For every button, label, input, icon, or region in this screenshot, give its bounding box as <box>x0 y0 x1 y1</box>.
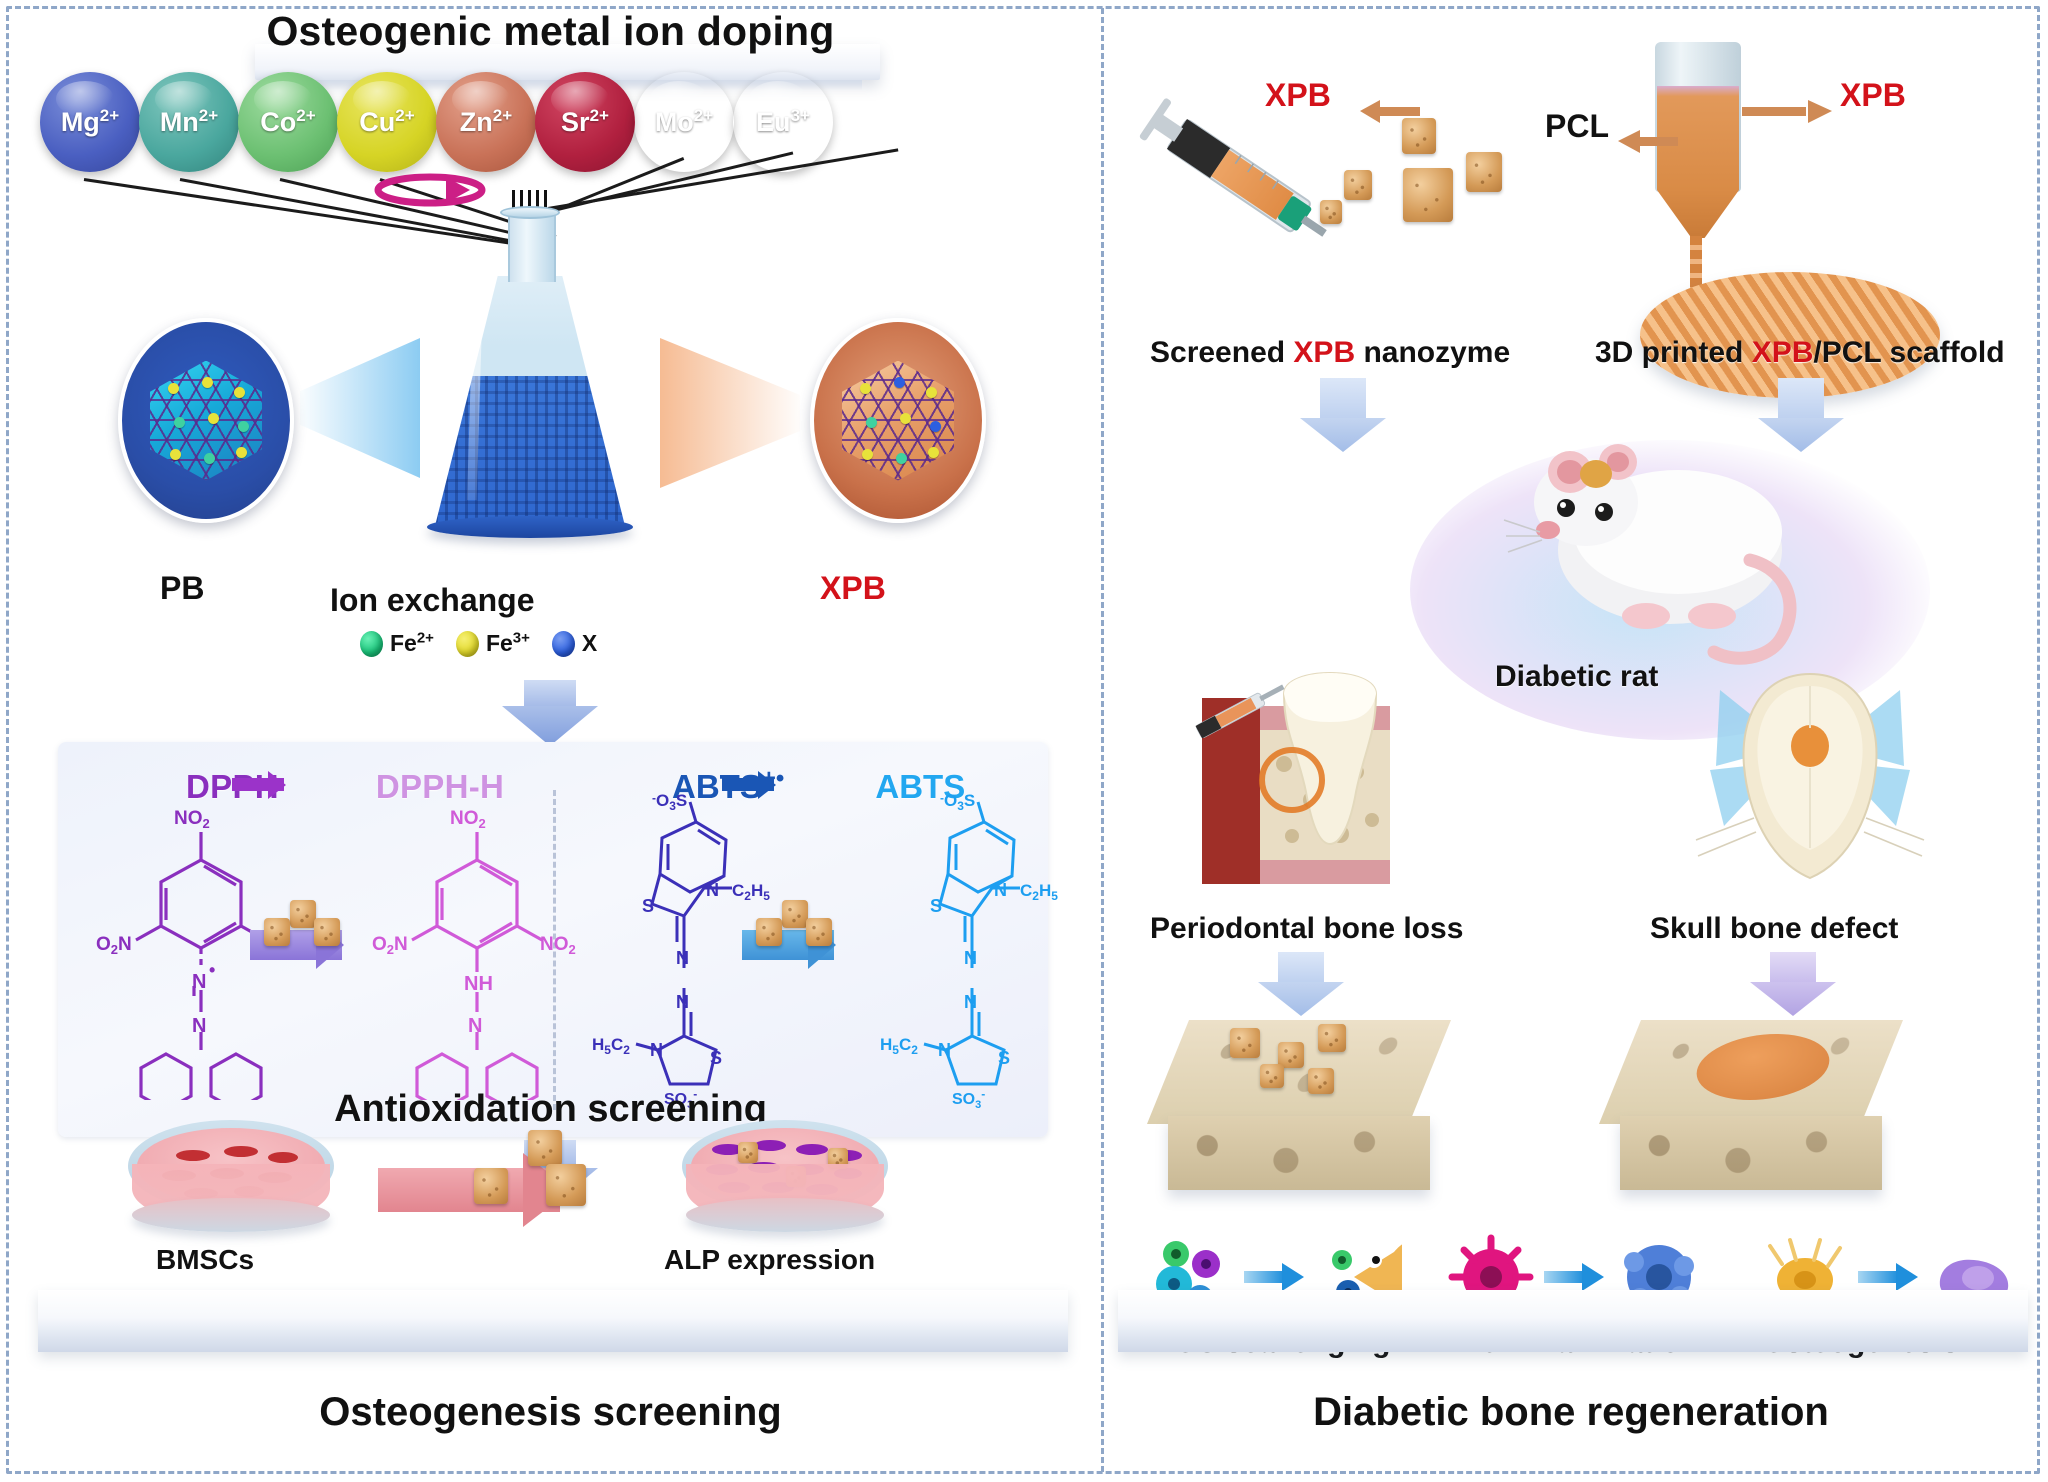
osteogenesis-screening-title: Osteogenesis screening <box>0 1390 1101 1435</box>
lattice-node <box>928 447 939 458</box>
nanocube <box>756 918 782 946</box>
caption-prefix: 3D printed <box>1595 336 1752 369</box>
svg-text:S: S <box>930 896 942 916</box>
svg-text:O2N: O2N <box>96 934 132 957</box>
caption-highlight-2: PCL <box>1822 336 1881 369</box>
lattice-node <box>862 449 873 460</box>
pcl-label: PCL <box>1545 108 1609 145</box>
scene-platform-3 <box>1118 1290 2028 1352</box>
ion-bubble-sr: Sr2+ <box>535 72 635 172</box>
svg-text:•: • <box>209 960 215 980</box>
xpb-label-scaffold: XPB <box>1840 77 1906 114</box>
dish-base <box>686 1198 884 1232</box>
petri-dish-bmscs <box>128 1120 334 1246</box>
svg-text:N: N <box>964 992 977 1012</box>
nanocube <box>806 918 832 946</box>
nanocube <box>782 900 808 928</box>
abts-arrow-icon <box>722 778 774 791</box>
legend-label: Fe2+ <box>390 630 434 657</box>
petri-dish-alp <box>682 1120 888 1246</box>
bone-top-surface <box>1147 1020 1451 1124</box>
lattice-node <box>204 453 215 464</box>
scene-platform-2 <box>38 1290 1068 1352</box>
legend-dot-green <box>360 631 383 657</box>
erlenmeyer-flask <box>395 190 665 590</box>
pb-crystal-inset <box>118 318 294 523</box>
svg-text:N: N <box>468 1015 482 1037</box>
bone-block-periodontal <box>1168 1020 1468 1200</box>
panel-divider <box>1101 8 1104 1472</box>
figure-root: Osteogenic metal ion doping Mg2+ Mn2+ Co… <box>0 0 2048 1482</box>
svg-text:NO2: NO2 <box>450 808 486 831</box>
svg-text:H5C2: H5C2 <box>592 1035 630 1057</box>
bone-front-surface <box>1620 1116 1882 1190</box>
nanocube <box>1308 1068 1334 1094</box>
nanocube <box>1260 1064 1284 1088</box>
ion-exchange-label: Ion exchange <box>330 582 535 619</box>
svg-text:NO2: NO2 <box>540 934 576 957</box>
printed-scaffold-caption: 3D printed XPB/PCL scaffold <box>1595 336 2005 370</box>
page-title: Osteogenic metal ion doping <box>0 8 1101 55</box>
nanocube <box>1466 152 1502 192</box>
nanocube <box>1344 170 1372 200</box>
alp-cell <box>796 1144 828 1155</box>
svg-text:-O3S: -O3S <box>652 792 687 813</box>
svg-text:H5C2: H5C2 <box>880 1035 918 1057</box>
ion-label: Co2+ <box>260 107 315 138</box>
ion-label: Cu2+ <box>359 107 414 138</box>
nanocube <box>314 918 340 946</box>
legend-item-x: X <box>552 630 597 657</box>
bmsc-cell <box>268 1152 298 1163</box>
legend-item-fe3: Fe3+ <box>456 630 530 657</box>
nanocube <box>1403 168 1453 222</box>
svg-text:N: N <box>650 1040 663 1060</box>
lattice-node <box>236 447 247 458</box>
pb-cube <box>150 361 262 481</box>
xpb-arrow-left-icon <box>1360 98 1420 124</box>
lattice-node <box>234 387 245 398</box>
pb-label: PB <box>160 570 204 607</box>
flow-arrow-to-bone-right <box>1750 952 1836 1014</box>
legend-label: X <box>582 630 597 657</box>
flask-lip <box>500 206 560 219</box>
alp-cell <box>754 1140 786 1151</box>
pcl-arrow-left-icon <box>1618 128 1678 154</box>
svg-text:NH: NH <box>464 973 493 995</box>
ion-label: Mn2+ <box>160 107 218 138</box>
nanocube <box>290 900 316 928</box>
bmsc-cell <box>176 1150 210 1161</box>
svg-text:N: N <box>938 1040 951 1060</box>
flask-liquid-texture <box>435 376 625 526</box>
skull-bone-defect-label: Skull bone defect <box>1650 912 1898 946</box>
ion-bubble-mn: Mn2+ <box>139 72 239 172</box>
caption-suffix: scaffold <box>1881 336 2004 369</box>
nanocube <box>474 1168 508 1204</box>
svg-text:-O3S: -O3S <box>940 792 975 813</box>
svg-text:O2N: O2N <box>372 934 408 957</box>
ion-label: Sr2+ <box>561 107 609 138</box>
nanocube <box>264 918 290 946</box>
svg-text:S: S <box>642 896 654 916</box>
lattice-node <box>202 377 213 388</box>
dpph-h-structure: NO2 O2N NO2 NH N <box>372 800 582 1100</box>
diabetic-bone-regeneration-title: Diabetic bone regeneration <box>1101 1390 2041 1435</box>
bone-front-surface <box>1168 1116 1430 1190</box>
svg-text:S: S <box>998 1048 1010 1068</box>
lattice-node <box>208 413 219 424</box>
nanocube <box>528 1130 562 1166</box>
svg-text:C2H5: C2H5 <box>732 881 770 903</box>
xpb-label-nanozyme: XPB <box>1265 77 1331 114</box>
xpb-arrow-right-icon <box>1742 98 1832 124</box>
mechanism-arrow-icon <box>1244 1268 1306 1286</box>
lattice-node <box>894 377 905 388</box>
periodontal-bone-loss-label: Periodontal bone loss <box>1150 912 1463 946</box>
flask-neck <box>508 212 556 282</box>
nanocube <box>738 1142 758 1163</box>
lattice-node <box>168 383 179 394</box>
ion-bubble-eu: Eu3+ <box>733 72 833 172</box>
mechanism-arrow-icon <box>1544 1268 1606 1286</box>
flow-arrow-to-rat-left <box>1300 378 1386 452</box>
lattice-node <box>896 453 907 464</box>
lattice-node <box>900 413 911 424</box>
lattice-node <box>170 449 181 460</box>
diabetic-rat-illustration <box>1500 420 1830 680</box>
svg-text:N: N <box>192 1015 206 1037</box>
ion-bubble-cu: Cu2+ <box>337 72 437 172</box>
caption-highlight: XPB <box>1752 336 1814 369</box>
ion-label: Mg2+ <box>61 107 119 138</box>
caption-highlight: XPB <box>1293 336 1355 369</box>
periodontal-bone-loss-illustration <box>1180 660 1460 900</box>
flow-arrow-to-bone-left <box>1258 952 1344 1014</box>
abts-structure: -O3S S N C2H5 N N N S H5C2 SO3- <box>880 792 1080 1112</box>
xpb-cube <box>842 361 954 481</box>
dpph-arrow-icon <box>232 778 284 791</box>
stirring-arrow-icon <box>370 173 490 207</box>
mechanism-arrow-icon <box>1858 1268 1920 1286</box>
svg-text:N: N <box>192 971 206 993</box>
bone-block-skull <box>1620 1020 1920 1200</box>
caption-suffix: nanozyme <box>1355 336 1510 369</box>
lattice-node <box>238 421 249 432</box>
ion-label: Eu3+ <box>756 107 810 138</box>
ion-label: Zn2+ <box>460 107 512 138</box>
svg-text:N: N <box>706 880 719 900</box>
svg-text:N: N <box>676 992 689 1012</box>
ion-bubble-zn: Zn2+ <box>436 72 536 172</box>
diabetic-rat-label: Diabetic rat <box>1495 660 1658 694</box>
xpb-crystal-inset <box>810 318 986 523</box>
legend-dot-blue <box>552 631 575 657</box>
lattice-node <box>926 387 937 398</box>
svg-text:N: N <box>994 880 1007 900</box>
ion-bubble-mo: Mo2+ <box>634 72 734 172</box>
svg-text:NO2: NO2 <box>174 808 210 831</box>
bmsc-cell <box>224 1146 258 1157</box>
nanocube <box>1320 200 1342 224</box>
ion-label: Mo2+ <box>655 107 713 138</box>
skull-bone-defect-illustration <box>1680 650 1940 900</box>
lattice-node <box>860 383 871 394</box>
legend-label: Fe3+ <box>486 630 530 657</box>
lattice-node <box>930 421 941 432</box>
svg-text:C2H5: C2H5 <box>1020 881 1058 903</box>
ion-bubble-co: Co2+ <box>238 72 338 172</box>
caption-prefix: Screened <box>1150 336 1293 369</box>
alp-label: ALP expression <box>664 1244 875 1276</box>
lattice-node <box>174 417 185 428</box>
ion-legend: Fe2+ Fe3+ X <box>360 630 597 657</box>
dish-base <box>132 1198 330 1232</box>
flask-base <box>427 516 633 538</box>
nanocube <box>1230 1028 1260 1058</box>
legend-item-fe2: Fe2+ <box>360 630 434 657</box>
xpb-label: XPB <box>820 570 886 607</box>
legend-dot-yellow <box>456 631 479 657</box>
screened-nanozyme-caption: Screened XPB nanozyme <box>1150 336 1510 370</box>
bmscs-label: BMSCs <box>156 1244 254 1276</box>
svg-text:N: N <box>964 948 977 968</box>
lattice-node <box>866 417 877 428</box>
svg-text:N: N <box>676 948 689 968</box>
svg-text:S: S <box>710 1048 722 1068</box>
nanocube <box>546 1164 586 1206</box>
ion-bubble-mg: Mg2+ <box>40 72 140 172</box>
caption-mid: / <box>1813 336 1821 369</box>
flow-arrow-down-1 <box>502 680 598 742</box>
nanocube <box>1318 1024 1346 1052</box>
